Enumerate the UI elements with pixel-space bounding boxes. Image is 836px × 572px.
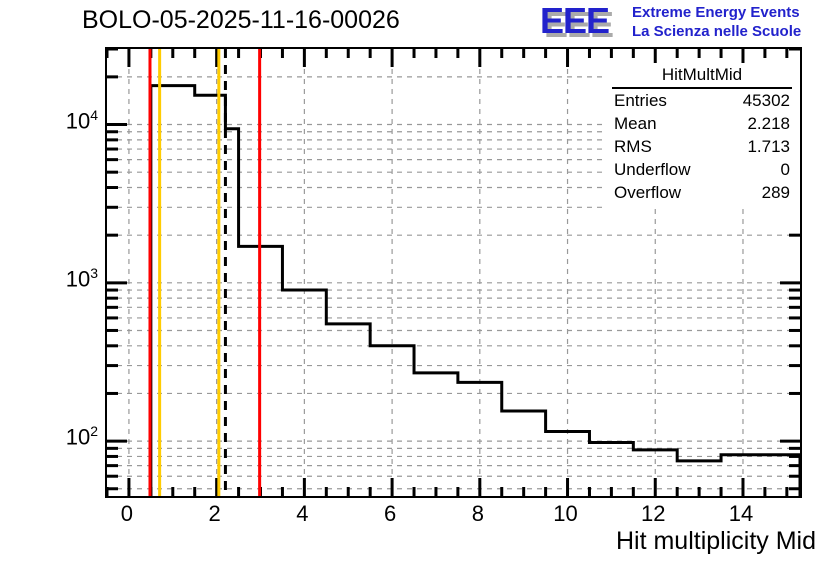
root-canvas: BOLO-05-2025-11-16-00026 EEE EEE Extreme…	[0, 0, 836, 572]
eee-logo-line2: La Scienza nelle Scuole	[632, 23, 801, 40]
stats-box: HitMultMid Entries45302Mean2.218RMS1.713…	[604, 63, 800, 209]
x-axis-title: Hit multiplicity Mid	[616, 527, 816, 556]
x-tick-label: 6	[360, 501, 420, 527]
eee-logo-mark: EEE	[540, 2, 609, 40]
y-tick-label: 104	[30, 107, 98, 134]
stats-row: Underflow0	[604, 158, 800, 181]
stats-key: RMS	[614, 135, 652, 158]
stats-title: HitMultMid	[612, 63, 792, 89]
x-tick-label: 0	[97, 501, 157, 527]
stats-rows: Entries45302Mean2.218RMS1.713Underflow0O…	[604, 89, 800, 204]
x-tick-label: 4	[272, 501, 332, 527]
stats-value: 45302	[743, 89, 790, 112]
stats-key: Underflow	[614, 158, 691, 181]
stats-key: Mean	[614, 112, 657, 135]
stats-row: Mean2.218	[604, 112, 800, 135]
stats-value: 1.713	[747, 135, 790, 158]
stats-value: 2.218	[747, 112, 790, 135]
stats-value: 289	[762, 181, 790, 204]
eee-logo: EEE EEE Extreme Energy Events La Scienza…	[540, 2, 836, 46]
x-tick-label: 12	[623, 501, 683, 527]
y-tick-label: 102	[30, 423, 98, 450]
stats-row: RMS1.713	[604, 135, 800, 158]
page-title: BOLO-05-2025-11-16-00026	[82, 6, 400, 35]
stats-key: Overflow	[614, 181, 681, 204]
x-tick-label: 10	[536, 501, 596, 527]
stats-value: 0	[781, 158, 790, 181]
eee-logo-line1: Extreme Energy Events	[632, 4, 800, 21]
x-tick-label: 8	[448, 501, 508, 527]
stats-row: Overflow289	[604, 181, 800, 204]
stats-key: Entries	[614, 89, 667, 112]
y-tick-label: 103	[30, 265, 98, 292]
x-tick-label: 2	[185, 501, 245, 527]
x-tick-label: 14	[711, 501, 771, 527]
stats-row: Entries45302	[604, 89, 800, 112]
